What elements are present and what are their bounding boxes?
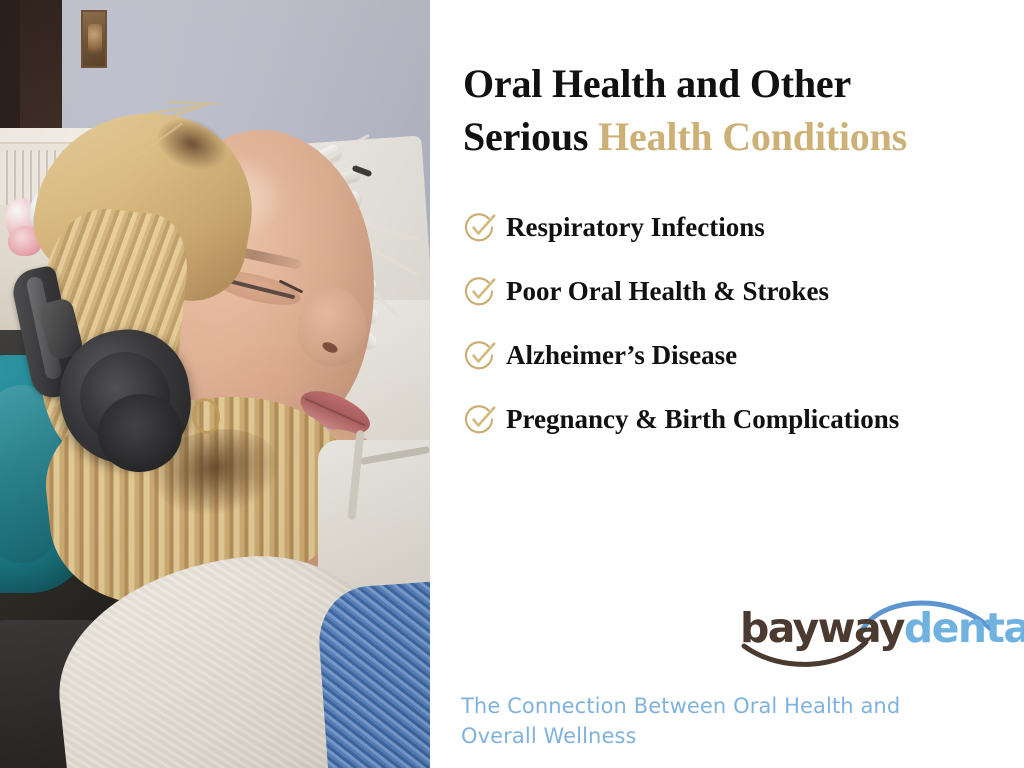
logo-bayway-text: bayway (740, 604, 904, 652)
list-item-label: Respiratory Infections (506, 213, 765, 243)
photo-stage (0, 0, 430, 768)
list-item: Pregnancy & Birth Complications (463, 388, 1008, 452)
title-line-2-gold: Health Conditions (598, 114, 907, 159)
page-title: Oral Health and Other Serious Health Con… (463, 57, 998, 164)
title-line-2-black: Serious (463, 114, 598, 159)
check-circle-icon (463, 402, 497, 436)
check-circle-icon (463, 274, 497, 308)
list-item: Poor Oral Health & Strokes (463, 260, 1008, 324)
footer-line-1: The Connection Between Oral Health and (461, 694, 900, 718)
dental-patient-photo (0, 0, 430, 768)
check-circle-icon (463, 210, 497, 244)
list-item-label: Pregnancy & Birth Complications (506, 405, 899, 435)
flyaway-hair (120, 96, 300, 166)
content-panel: Oral Health and Other Serious Health Con… (430, 0, 1024, 768)
logo-dental-text: dental (904, 604, 1024, 652)
wall-picture-frame (81, 10, 107, 68)
bayway-dental-logo[interactable]: baywaydental (734, 590, 1022, 672)
conditions-list: Respiratory Infections Poor Oral Health … (463, 196, 1008, 452)
logo-wordmark: baywaydental (740, 608, 1024, 649)
slide-root: Oral Health and Other Serious Health Con… (0, 0, 1024, 768)
footer-line-2: Overall Wellness (461, 724, 637, 748)
blue-garment (316, 581, 430, 768)
check-circle-icon (463, 338, 497, 372)
list-item-label: Poor Oral Health & Strokes (506, 277, 829, 307)
list-item-label: Alzheimer’s Disease (506, 341, 737, 371)
title-line-1: Oral Health and Other (463, 61, 851, 106)
list-item: Respiratory Infections (463, 196, 1008, 260)
footer-caption: The Connection Between Oral Health and O… (461, 692, 981, 752)
list-item: Alzheimer’s Disease (463, 324, 1008, 388)
